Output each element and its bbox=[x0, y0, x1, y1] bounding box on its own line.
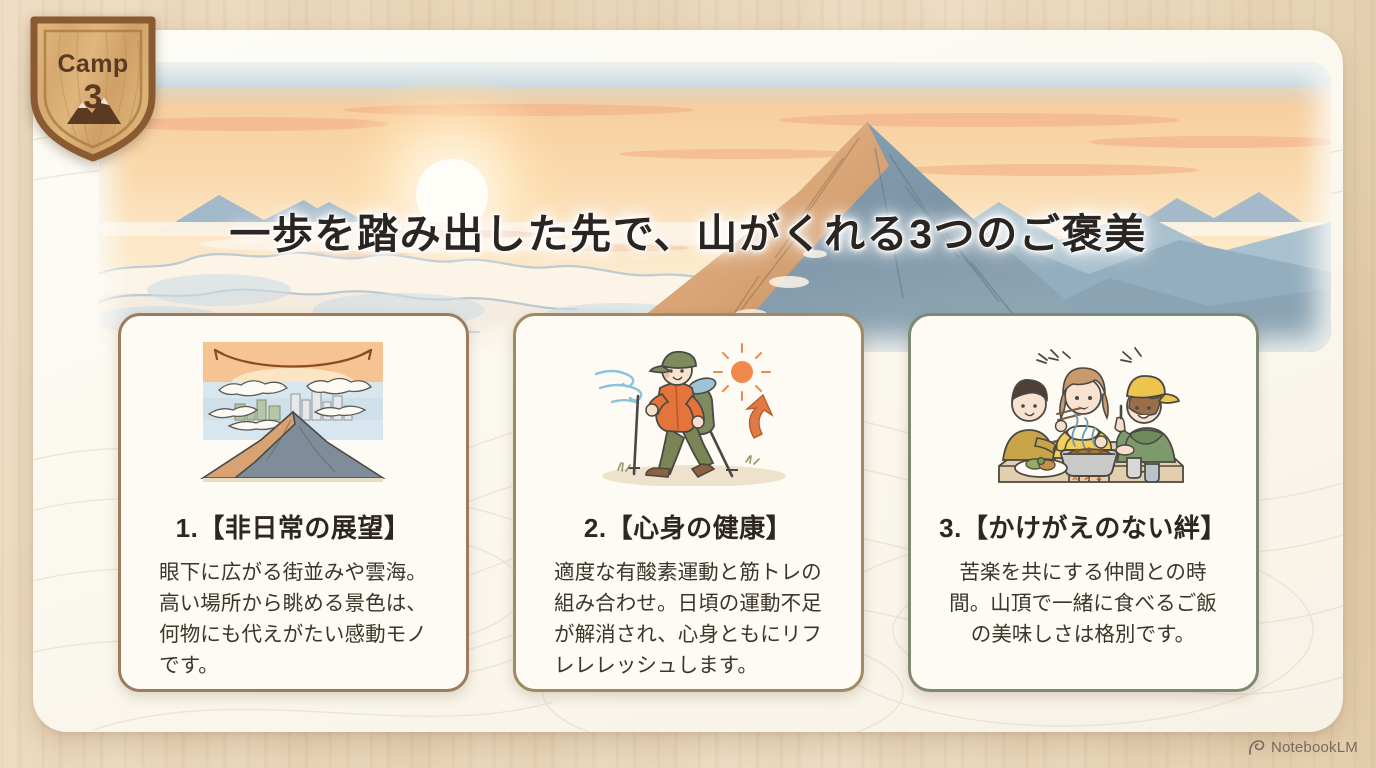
friends-sharing-hotpot-icon bbox=[977, 338, 1189, 486]
card-1-heading: 1.【非日常の展望】 bbox=[176, 508, 411, 545]
notebooklm-spiral-icon bbox=[1248, 739, 1265, 756]
card-3-body-line: 間。山頂で一緒に食べるご飯 bbox=[949, 588, 1217, 619]
city-view-above-clouds-icon bbox=[195, 338, 391, 486]
card-3-body: 苦楽を共にする仲間との時 間。山頂で一緒に食べるご飯 の美味しさは格別です。 bbox=[949, 557, 1217, 650]
card-2-heading: 2.【心身の健康】 bbox=[584, 508, 792, 545]
camp-shield-badge: Camp 3 bbox=[26, 12, 160, 164]
card-1-body-line: です。 bbox=[159, 650, 427, 681]
card-1-body-line: 何物にも代えがたい感動モノ bbox=[159, 619, 427, 650]
card-3-body-line: 苦楽を共にする仲間との時 bbox=[949, 557, 1217, 588]
benefit-card-1[interactable]: 1.【非日常の展望】 眼下に広がる街並みや雲海。 高い場所から眺める景色は、 何… bbox=[118, 313, 469, 692]
card-2-body-line: が解消され、心身ともにリフ bbox=[554, 619, 822, 650]
card-2-body-line: 組み合わせ。日頃の運動不足 bbox=[554, 588, 822, 619]
card-3-body-line: の美味しさは格別です。 bbox=[949, 619, 1217, 650]
notebooklm-watermark: NotebookLM bbox=[1248, 739, 1358, 756]
card-1-body-line: 高い場所から眺める景色は、 bbox=[159, 588, 427, 619]
benefit-cards-row: 1.【非日常の展望】 眼下に広がる街並みや雲海。 高い場所から眺める景色は、 何… bbox=[0, 313, 1376, 695]
notebooklm-label: NotebookLM bbox=[1271, 739, 1358, 756]
card-1-body: 眼下に広がる街並みや雲海。 高い場所から眺める景色は、 何物にも代えがたい感動モ… bbox=[159, 557, 427, 682]
hiker-walking-icon bbox=[582, 338, 794, 486]
card-2-body-line: レレレッシュします。 bbox=[554, 650, 822, 681]
page-title: 一歩を踏み出した先で、山がくれる3つのご褒美 bbox=[0, 200, 1376, 260]
card-3-heading: 3.【かけがえのない絆】 bbox=[939, 508, 1227, 545]
benefit-card-3[interactable]: 3.【かけがえのない絆】 苦楽を共にする仲間との時 間。山頂で一緒に食べるご飯 … bbox=[908, 313, 1259, 692]
card-2-body-line: 適度な有酸素運動と筋トレの bbox=[554, 557, 822, 588]
card-1-body-line: 眼下に広がる街並みや雲海。 bbox=[159, 557, 427, 588]
card-2-body: 適度な有酸素運動と筋トレの 組み合わせ。日頃の運動不足 が解消され、心身ともにリ… bbox=[554, 557, 822, 682]
benefit-card-2[interactable]: 2.【心身の健康】 適度な有酸素運動と筋トレの 組み合わせ。日頃の運動不足 が解… bbox=[513, 313, 864, 692]
